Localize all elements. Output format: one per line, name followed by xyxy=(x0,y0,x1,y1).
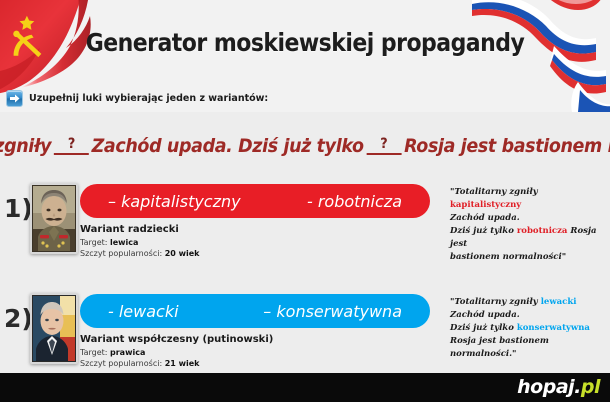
variant-pill-1[interactable]: – kapitalistyczny - robotnicza xyxy=(80,184,430,218)
peak-value: 20 wiek xyxy=(165,249,200,258)
variant-meta-2: Wariant współczesny (putinowski) Target:… xyxy=(80,334,330,370)
example-line-1-pre: "Totalitarny zgniły xyxy=(450,297,541,307)
variant-title: Wariant radziecki xyxy=(80,224,330,235)
example-highlight-1: lewacki xyxy=(541,297,577,307)
instruction-text: Uzupełnij luki wybierając jeden z warian… xyxy=(29,93,268,104)
variant-peak-line: Szczyt popularności: 21 wiek xyxy=(80,359,330,368)
variant-target-line: Target: lewica xyxy=(80,238,330,247)
slogan-part-1: "Totalitarny zgniły xyxy=(0,135,51,157)
example-line-4: bastionem normalności" xyxy=(450,252,566,262)
watermark-main: hopaj. xyxy=(517,376,581,398)
variant-row-1: 1) xyxy=(0,178,610,278)
variant-title: Wariant współczesny (putinowski) xyxy=(80,334,330,345)
target-label: Target: xyxy=(80,238,107,247)
slogan-blank-2[interactable]: ? xyxy=(366,137,401,155)
slogan-blank-1[interactable]: ? xyxy=(54,137,89,155)
example-line-5: normalności." xyxy=(450,349,517,359)
slogan-template: "Totalitarny zgniły ? Zachód upada. Dziś… xyxy=(24,130,585,162)
variant-pill-2[interactable]: - lewacki – konserwatywna xyxy=(80,294,430,328)
example-highlight-1: kapitalistyczny xyxy=(450,200,521,210)
variant-target-line: Target: prawica xyxy=(80,348,330,357)
slogan-part-3: Rosja jest bastionem normalności" xyxy=(404,135,610,157)
variant-peak-line: Szczyt popularności: 20 wiek xyxy=(80,249,330,258)
watermark-tld: pl xyxy=(581,376,600,398)
example-highlight-2: robotnicza xyxy=(517,226,568,236)
peak-value: 21 wiek xyxy=(165,359,200,368)
blue-arrow-right-icon xyxy=(6,90,23,107)
example-line-2: Zachód upada. xyxy=(450,213,520,223)
variant-example-1: "Totalitarny zgniły kapitalistyczny Zach… xyxy=(450,186,602,264)
example-line-3-pre: Dziś już tylko xyxy=(450,226,517,236)
pill-option-right[interactable]: - robotnicza xyxy=(307,192,402,211)
pill-option-right[interactable]: – konserwatywna xyxy=(263,302,402,321)
stalin-portrait xyxy=(30,183,78,254)
peak-label: Szczyt popularności: xyxy=(80,249,162,258)
example-line-1-pre: "Totalitarny zgniły xyxy=(450,187,538,197)
variant-number: 1) xyxy=(4,194,33,223)
pill-option-left[interactable]: - lewacki xyxy=(108,302,179,321)
target-value: prawica xyxy=(110,348,145,357)
example-highlight-2: konserwatywna xyxy=(517,323,590,333)
target-value: lewica xyxy=(110,238,138,247)
watermark-logo: hopaj.pl xyxy=(517,376,600,398)
instruction-row: Uzupełnij luki wybierając jeden z warian… xyxy=(6,90,268,107)
example-line-2: Zachód upada. xyxy=(450,310,520,320)
slogan-part-2: Zachód upada. Dziś już tylko xyxy=(92,135,364,157)
propaganda-generator-image: Generator moskiewskiej propagandy Uzupeł… xyxy=(0,0,610,402)
page-title: Generator moskiewskiej propagandy xyxy=(37,28,574,57)
peak-label: Szczyt popularności: xyxy=(80,359,162,368)
target-label: Target: xyxy=(80,348,107,357)
footer-bar: hopaj.pl xyxy=(0,373,610,402)
putin-portrait xyxy=(30,293,78,364)
example-line-3-pre: Dziś już tylko xyxy=(450,323,517,333)
variant-meta-1: Wariant radziecki Target: lewica Szczyt … xyxy=(80,224,330,260)
pill-option-left[interactable]: – kapitalistyczny xyxy=(108,192,241,211)
variant-example-2: "Totalitarny zgniły lewacki Zachód upada… xyxy=(450,296,602,361)
variant-number: 2) xyxy=(4,304,33,333)
example-line-4: Rosja jest bastionem xyxy=(450,336,549,346)
